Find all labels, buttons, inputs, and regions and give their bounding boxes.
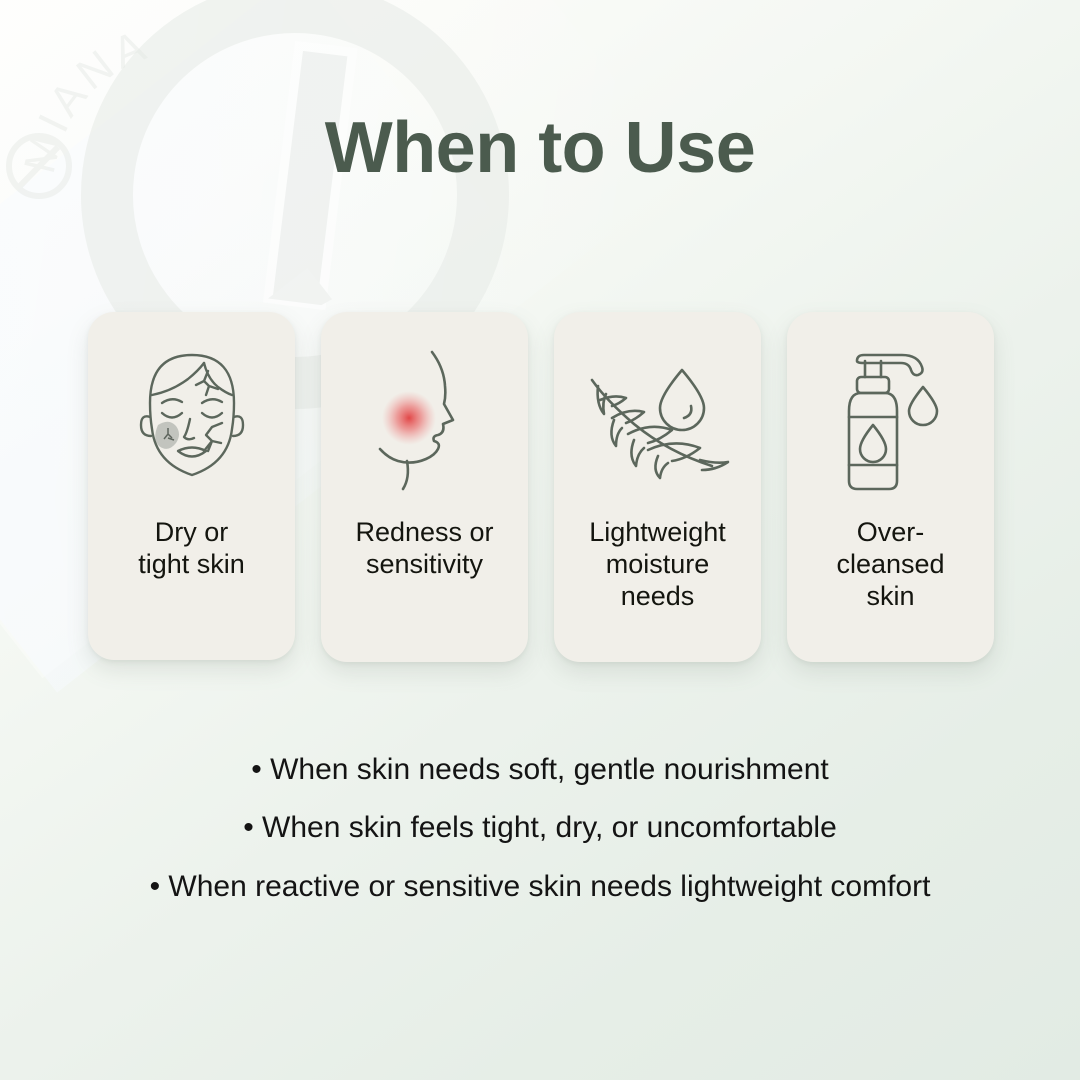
card-label: Lightweight moisture needs	[581, 516, 734, 612]
list-item: • When skin feels tight, dry, or uncomfo…	[0, 810, 1080, 845]
feather-droplet-icon	[578, 342, 738, 502]
card-label: Redness or sensitivity	[347, 516, 501, 580]
card-label: Dry or tight skin	[130, 516, 253, 580]
card-lightweight-moisture[interactable]: Lightweight moisture needs	[554, 312, 761, 662]
dry-cracked-face-icon	[128, 342, 256, 502]
bullet-list: • When skin needs soft, gentle nourishme…	[0, 752, 1080, 904]
list-item: • When reactive or sensitive skin needs …	[0, 869, 1080, 904]
poster-canvas: MIANA When to Use	[0, 0, 1080, 1080]
benefit-cards-row: Dry or tight skin	[88, 312, 994, 662]
face-profile-redness-icon	[366, 342, 484, 502]
card-dry-tight-skin[interactable]: Dry or tight skin	[88, 312, 295, 660]
card-over-cleansed-skin[interactable]: Over- cleansed skin	[787, 312, 994, 662]
card-label: Over- cleansed skin	[828, 516, 952, 612]
page-title: When to Use	[0, 107, 1080, 189]
card-redness-sensitivity[interactable]: Redness or sensitivity	[321, 312, 528, 662]
pump-bottle-droplet-icon	[835, 342, 947, 502]
list-item: • When skin needs soft, gentle nourishme…	[0, 752, 1080, 787]
